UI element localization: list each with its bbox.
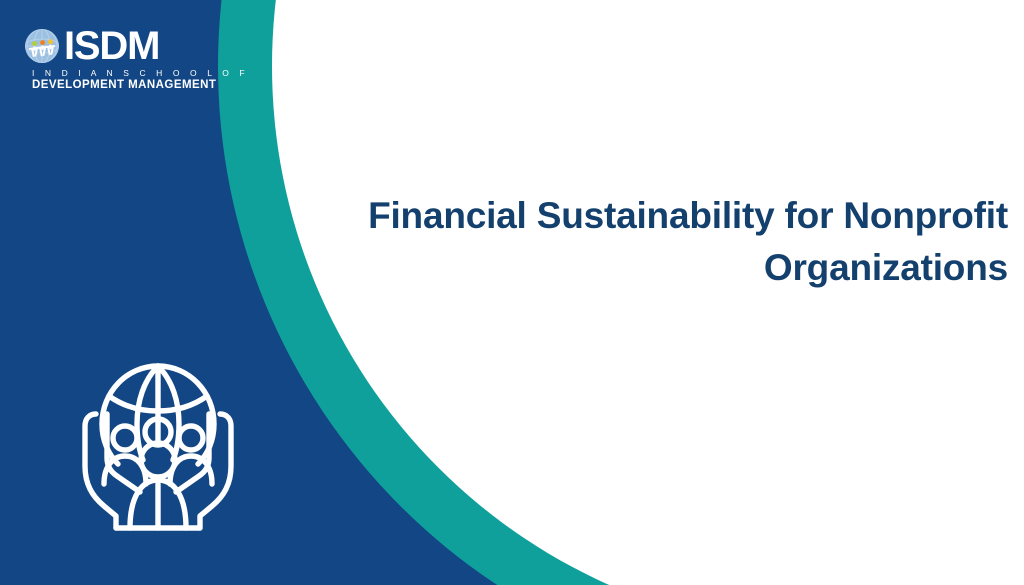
title-line-1: Financial Sustainability for Nonprofit [368,190,1008,242]
slide-canvas: ISDM I N D I A N S C H O O L O F DEVELOP… [0,0,1024,585]
logo-tagline-line1: I N D I A N S C H O O L O F [32,68,204,79]
logo-tagline-line2: DEVELOPMENT MANAGEMENT [32,79,204,92]
logo-wordmark-row: ISDM [22,24,212,68]
logo-wordmark: ISDM [64,26,159,66]
isdm-logo: ISDM I N D I A N S C H O O L O F DEVELOP… [22,24,212,96]
hands-holding-globe-people-icon [78,362,238,536]
isdm-globe-people-icon [22,26,62,66]
title-line-2: Organizations [368,242,1008,294]
slide-title: Financial Sustainability for Nonprofit O… [368,190,1008,294]
